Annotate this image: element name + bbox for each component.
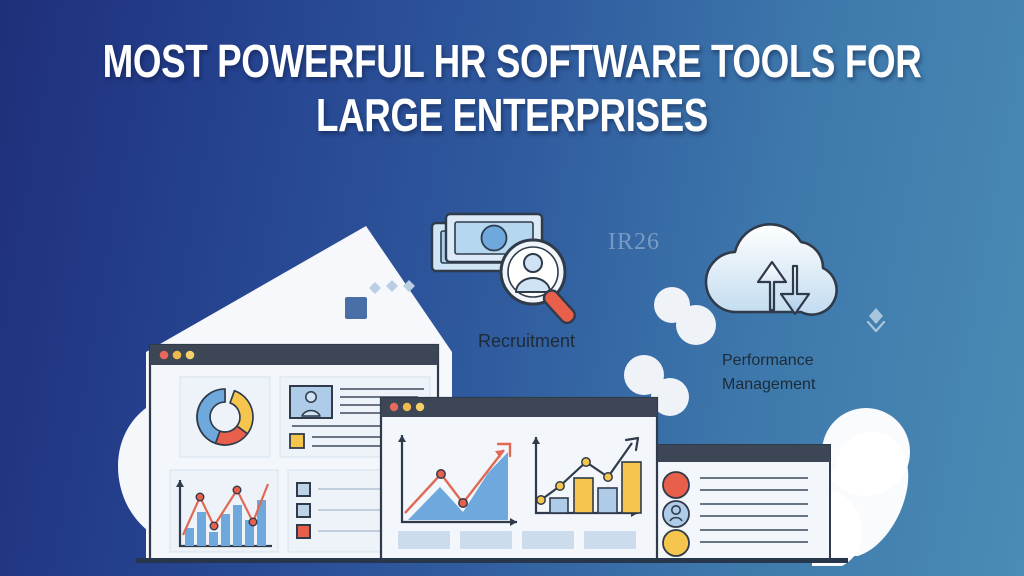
label-performance-line-1: Performance bbox=[722, 352, 814, 369]
window-dot-amber bbox=[173, 351, 182, 360]
avatar bbox=[663, 472, 689, 498]
watermark-text: IR26 bbox=[608, 229, 660, 256]
profile-thumbnail bbox=[290, 386, 332, 418]
checkbox-item-1 bbox=[297, 483, 310, 496]
cloud-sync-icon bbox=[706, 224, 837, 314]
illustration bbox=[0, 0, 1024, 576]
checkbox-item-3 bbox=[297, 525, 310, 538]
profile-badge-square bbox=[290, 434, 304, 448]
label-performance-management: Performance Management bbox=[722, 349, 815, 397]
label-recruitment: Recruitment bbox=[478, 331, 575, 352]
avatar bbox=[663, 530, 689, 556]
window-dot-yellow bbox=[186, 351, 195, 360]
checkbox-item-2 bbox=[297, 504, 310, 517]
window-dot-red bbox=[160, 351, 169, 360]
window-dot-red bbox=[390, 403, 398, 411]
label-performance-line-2: Management bbox=[722, 376, 815, 393]
employee-list-window[interactable] bbox=[648, 445, 830, 559]
baseline bbox=[136, 558, 848, 563]
magnifier-person-icon bbox=[501, 240, 578, 326]
reports-window[interactable] bbox=[381, 398, 657, 560]
window-dot-yellow bbox=[416, 403, 424, 411]
hero-graphic: MOST POWERFUL HR SOFTWARE TOOLS FOR LARG… bbox=[0, 0, 1024, 576]
envelope-square-accent bbox=[345, 297, 367, 319]
window-dot-amber bbox=[403, 403, 411, 411]
avatar bbox=[663, 501, 689, 527]
